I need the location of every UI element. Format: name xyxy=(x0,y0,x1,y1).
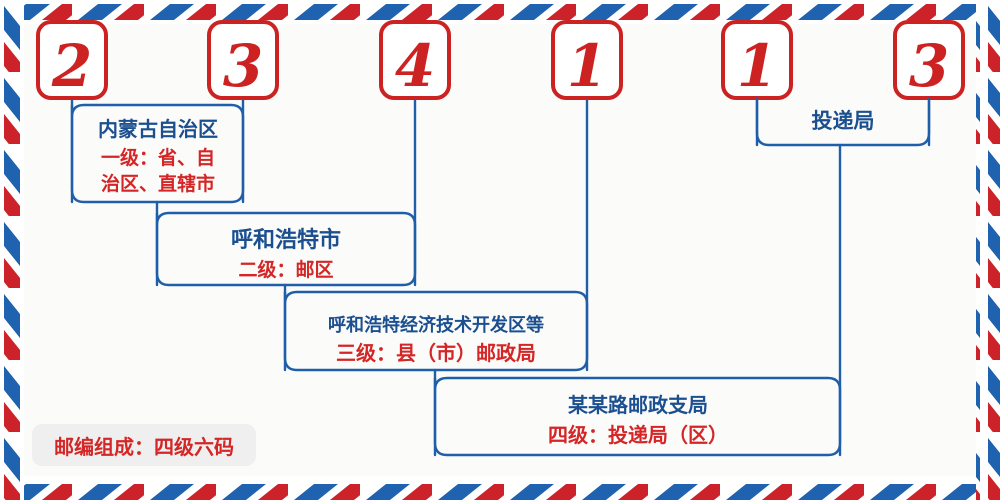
diagram-layer: 2 3 4 1 1 3 xyxy=(0,0,1000,500)
level-4-name: 某某路邮政支局 xyxy=(568,393,708,417)
digit-cell-6[interactable]: 3 xyxy=(895,22,963,100)
level-1-type-line2: 治区、直辖市 xyxy=(101,172,215,195)
level-box-2[interactable]: 呼和浩特市 二级：邮区 xyxy=(157,213,415,285)
postcode-digit-row: 2 3 4 1 1 3 xyxy=(38,22,963,100)
digit-value-6: 3 xyxy=(909,32,949,100)
digit-cell-5[interactable]: 1 xyxy=(723,22,791,100)
digit-value-3: 4 xyxy=(395,32,435,100)
level-3-type: 三级：县（市）邮政局 xyxy=(336,341,536,365)
digit-cell-4[interactable]: 1 xyxy=(553,22,621,100)
level-box-3[interactable]: 呼和浩特经济技术开发区等 三级：县（市）邮政局 xyxy=(285,292,587,370)
digit-value-5: 1 xyxy=(737,32,777,100)
postcode-structure-diagram: 2 3 4 1 1 3 xyxy=(0,0,1000,500)
digit-value-1: 2 xyxy=(51,32,92,100)
level-4-type: 四级：投递局（区） xyxy=(548,423,728,447)
level-2-type: 二级：邮区 xyxy=(238,258,333,281)
digit-value-4: 1 xyxy=(567,32,607,100)
level-3-name: 呼和浩特经济技术开发区等 xyxy=(328,314,544,336)
delivery-office-label: 投递局 xyxy=(812,109,875,133)
footer-badge: 邮编组成：四级六码 xyxy=(32,424,256,466)
level-box-4[interactable]: 某某路邮政支局 四级：投递局（区） xyxy=(435,378,840,455)
digit-cell-2[interactable]: 3 xyxy=(209,22,277,100)
level-1-name: 内蒙古自治区 xyxy=(98,117,218,141)
footer-badge-label: 邮编组成：四级六码 xyxy=(54,435,234,459)
delivery-office-box[interactable]: 投递局 xyxy=(757,98,929,145)
digit-value-2: 3 xyxy=(223,32,263,100)
digit-cell-3[interactable]: 4 xyxy=(381,22,449,100)
digit-cell-1[interactable]: 2 xyxy=(38,22,106,100)
level-1-type-line1: 一级：省、自 xyxy=(101,146,215,169)
level-box-1[interactable]: 内蒙古自治区 一级：省、自 治区、直辖市 xyxy=(72,105,243,202)
level-2-name: 呼和浩特市 xyxy=(231,227,341,253)
